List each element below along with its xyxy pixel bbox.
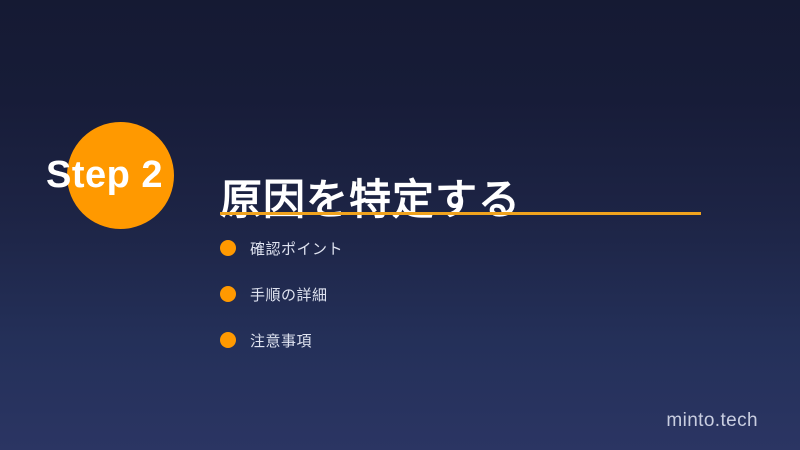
title-divider <box>220 212 701 215</box>
bullet-item-label: 注意事項 <box>250 330 312 351</box>
list-item: 注意事項 <box>220 324 700 356</box>
slide-title: 原因を特定する <box>220 174 521 226</box>
slide-canvas: Step 2 原因を特定する 確認ポイント 手順の詳細 注意事項 minto.t… <box>0 0 800 450</box>
bullet-dot-icon <box>220 240 236 256</box>
footer-brand: minto.tech <box>666 410 758 432</box>
bullet-dot-icon <box>220 332 236 348</box>
bullet-item-label: 確認ポイント <box>250 238 343 259</box>
bullet-list: 確認ポイント 手順の詳細 注意事項 <box>220 232 700 370</box>
bullet-dot-icon <box>220 286 236 302</box>
step-badge-label: Step 2 <box>46 152 206 198</box>
bullet-item-label: 手順の詳細 <box>250 284 328 305</box>
list-item: 手順の詳細 <box>220 278 700 310</box>
list-item: 確認ポイント <box>220 232 700 264</box>
